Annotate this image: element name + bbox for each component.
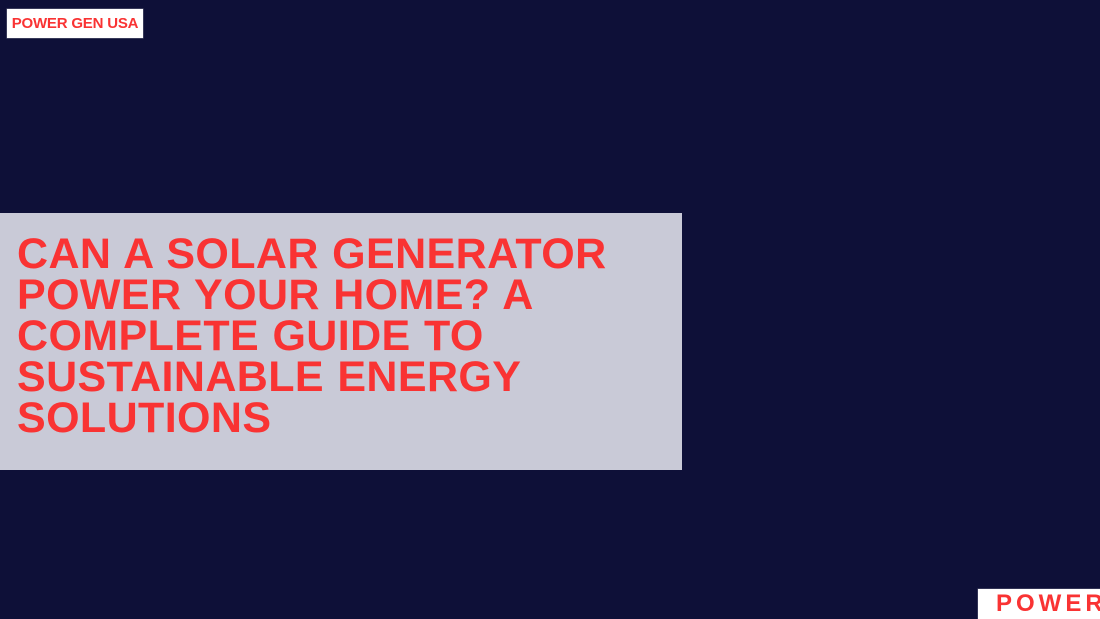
brand-logo-badge[interactable]: POWER GEN USA bbox=[7, 9, 143, 38]
corner-word-badge[interactable]: POWER bbox=[978, 589, 1100, 619]
brand-logo-label: POWER GEN USA bbox=[12, 16, 139, 31]
hero-title-panel: Can a Solar Generator Power Your Home? A… bbox=[0, 213, 682, 470]
corner-word-label: POWER bbox=[978, 592, 1100, 616]
page-title: Can a Solar Generator Power Your Home? A… bbox=[17, 234, 664, 439]
slide-canvas: POWER GEN USA Can a Solar Generator Powe… bbox=[0, 0, 1100, 619]
